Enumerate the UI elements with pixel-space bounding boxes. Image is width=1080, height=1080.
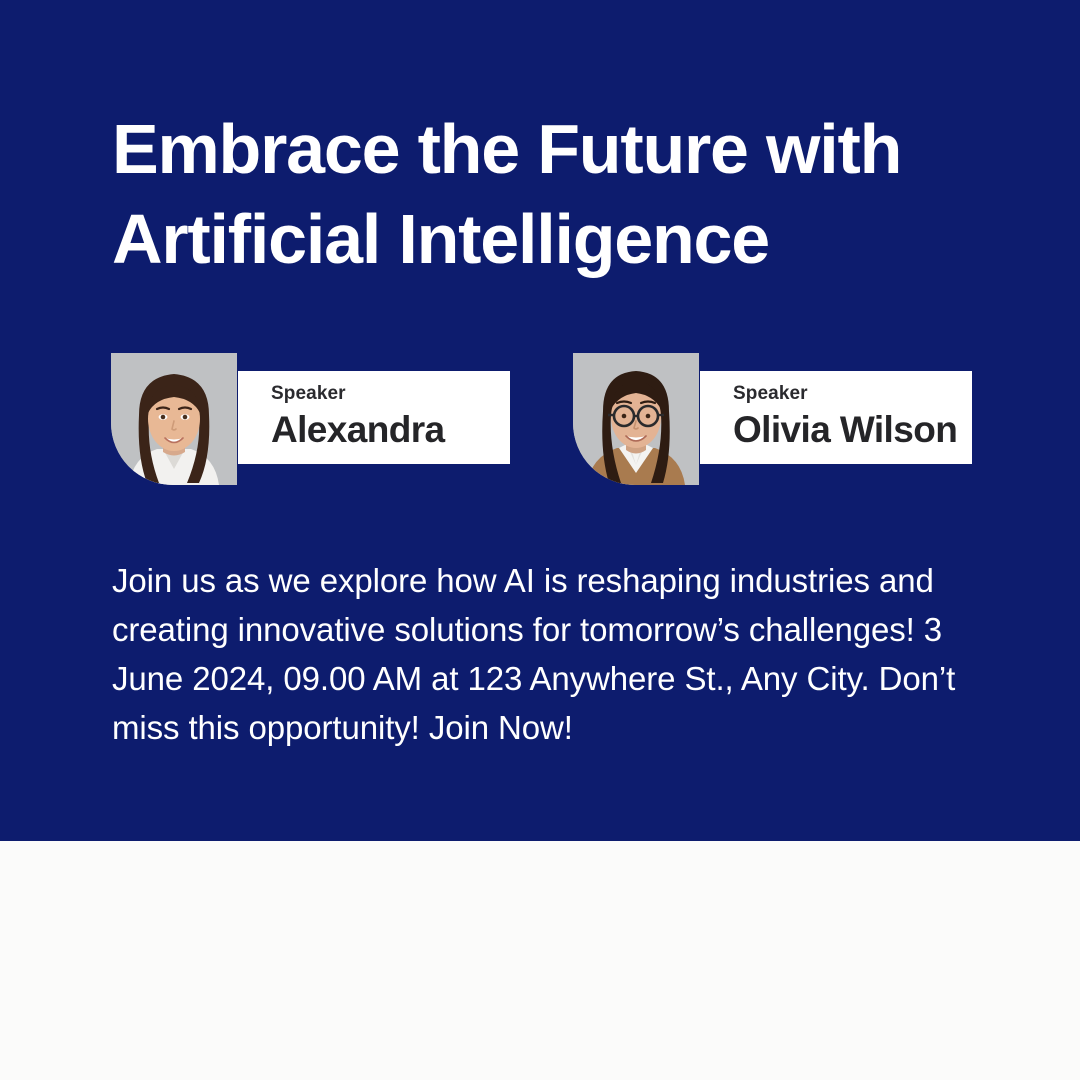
speaker-role: Speaker [733, 384, 972, 403]
poster-canvas: Embrace the Future with Artificial Intel… [0, 0, 1080, 1080]
speaker-photo [573, 353, 699, 485]
page-title: Embrace the Future with Artificial Intel… [112, 105, 992, 284]
speaker-name: Olivia Wilson [733, 409, 972, 452]
hero-section: Embrace the Future with Artificial Intel… [0, 0, 1080, 841]
event-description: Join us as we explore how AI is reshapin… [112, 556, 992, 752]
speaker-info: Speaker Olivia Wilson [700, 371, 972, 464]
speaker-name: Alexandra [271, 409, 510, 452]
footer-section: Capcut Free Registration! Follow our soc… [0, 841, 1080, 1080]
speaker-list: Speaker Alexandra [0, 353, 1080, 493]
speaker-card[interactable]: Speaker Olivia Wilson [573, 353, 972, 485]
speaker-info: Speaker Alexandra [238, 371, 510, 464]
speaker-photo [111, 353, 237, 485]
speaker-role: Speaker [271, 384, 510, 403]
speaker-card[interactable]: Speaker Alexandra [111, 353, 510, 485]
